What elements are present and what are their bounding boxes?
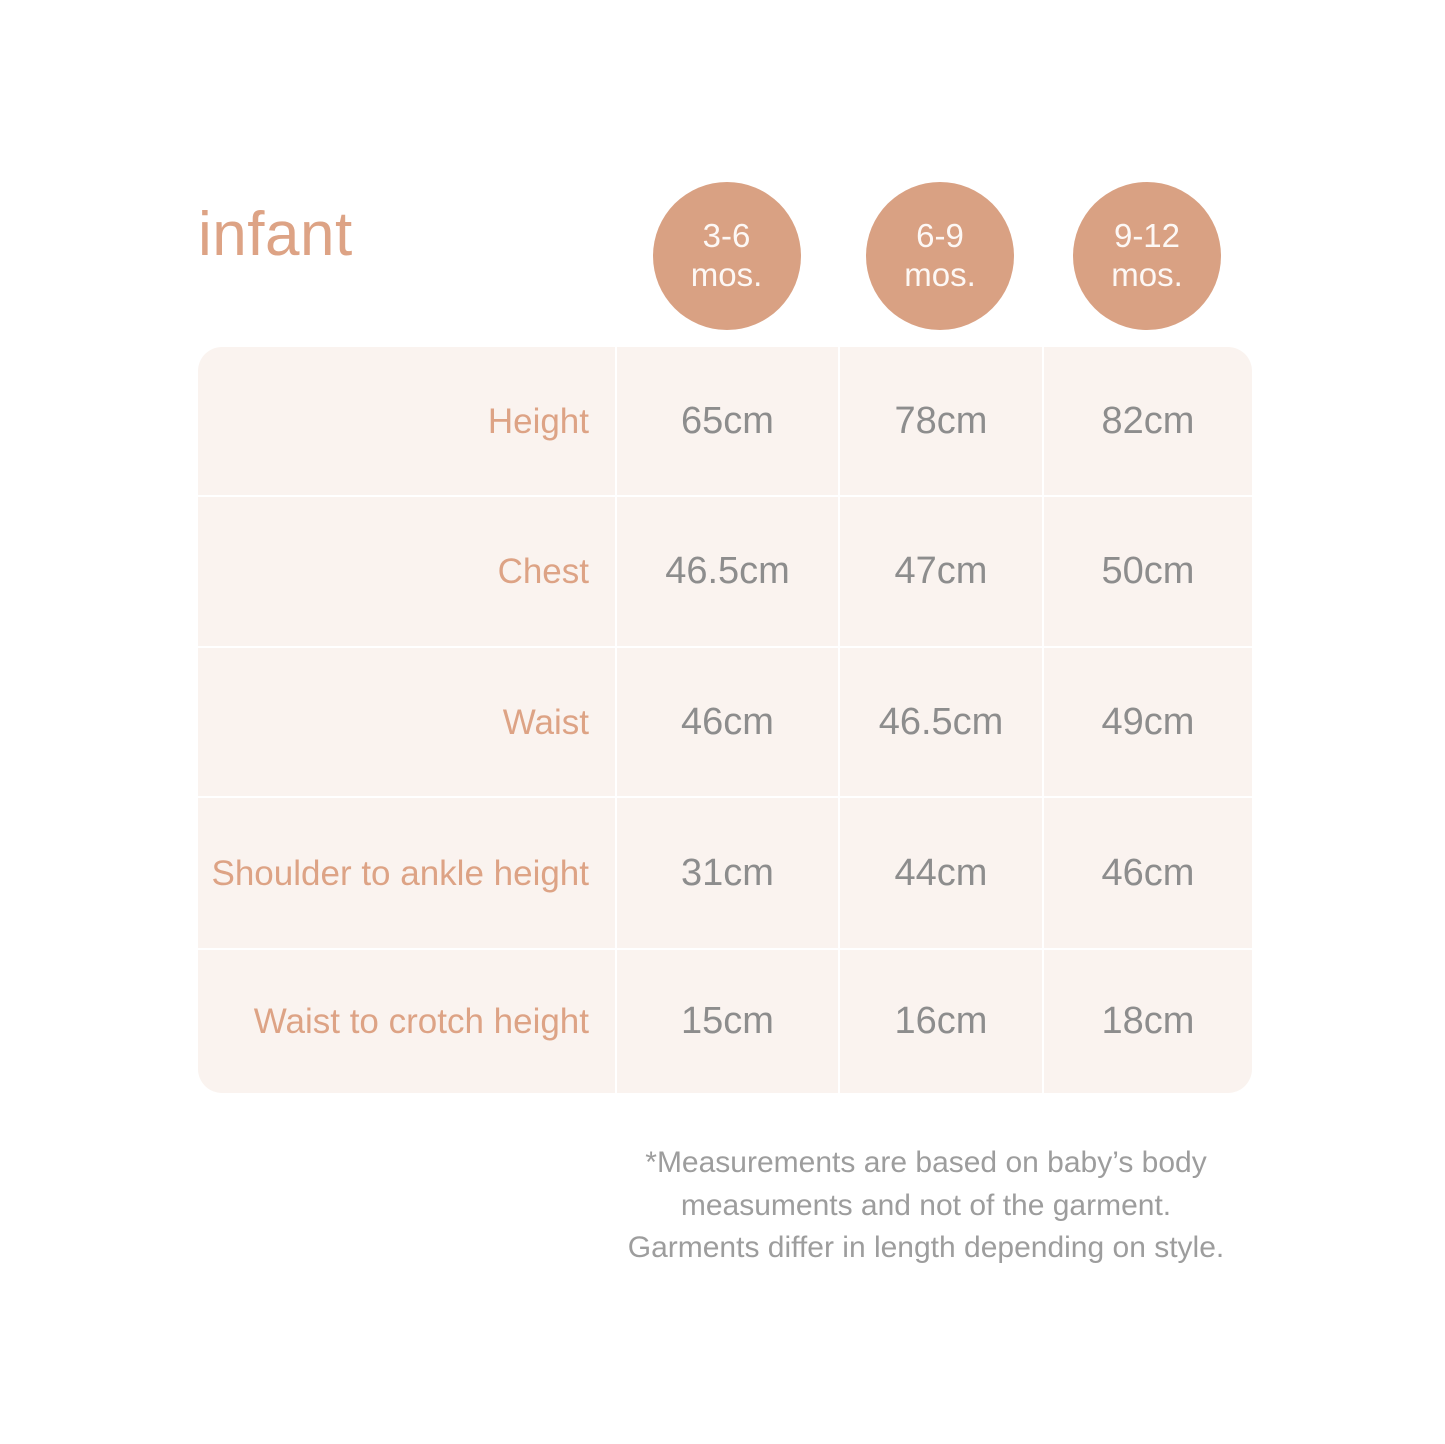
size-badge-unit: mos. [691, 256, 763, 295]
table-cell: 31cm [615, 798, 838, 948]
size-columns-header: 3-6 mos. 6-9 mos. 9-12 mos. [615, 182, 1252, 330]
footnote-line-2: measuments and not of the garment. [600, 1185, 1252, 1228]
table-row: Shoulder to ankle height 31cm 44cm 46cm [198, 796, 1252, 948]
size-badge-6-9-mos[interactable]: 6-9 mos. [866, 182, 1014, 330]
table-cell: 82cm [1042, 347, 1252, 495]
size-badge-range: 6-9 [916, 217, 964, 256]
table-cell: 18cm [1042, 950, 1252, 1093]
table-cell: 65cm [615, 347, 838, 495]
table-cell: 46.5cm [615, 497, 838, 645]
size-chart-page: infant 3-6 mos. 6-9 mos. 9-12 mos. Heigh… [0, 0, 1445, 1444]
table-row: Waist 46cm 46.5cm 49cm [198, 646, 1252, 796]
table-cell: 44cm [838, 798, 1042, 948]
table-row: Height 65cm 78cm 82cm [198, 347, 1252, 495]
table-cell: 46cm [1042, 798, 1252, 948]
table-cell: 16cm [838, 950, 1042, 1093]
table-cell: 46.5cm [838, 648, 1042, 796]
size-badge-3-6-mos[interactable]: 3-6 mos. [653, 182, 801, 330]
page-title: infant [198, 204, 353, 266]
footnote-line-1: *Measurements are based on baby’s body [600, 1142, 1252, 1185]
size-badge-unit: mos. [1111, 256, 1183, 295]
footnote: *Measurements are based on baby’s body m… [600, 1142, 1252, 1270]
size-badge-range: 3-6 [703, 217, 751, 256]
footnote-line-3: Garments differ in length depending on s… [600, 1227, 1252, 1270]
row-label: Height [198, 347, 615, 495]
row-label: Chest [198, 497, 615, 645]
table-cell: 15cm [615, 950, 838, 1093]
table-row: Chest 46.5cm 47cm 50cm [198, 495, 1252, 645]
size-column-header-cell: 3-6 mos. [615, 182, 838, 330]
table-cell: 50cm [1042, 497, 1252, 645]
table-cell: 78cm [838, 347, 1042, 495]
measurements-table: Height 65cm 78cm 82cm Chest 46.5cm 47cm … [198, 347, 1252, 1093]
table-cell: 49cm [1042, 648, 1252, 796]
size-column-header-cell: 6-9 mos. [838, 182, 1042, 330]
size-badge-unit: mos. [904, 256, 976, 295]
table-cell: 46cm [615, 648, 838, 796]
row-label: Shoulder to ankle height [198, 798, 615, 948]
size-badge-range: 9-12 [1114, 217, 1180, 256]
size-column-header-cell: 9-12 mos. [1042, 182, 1252, 330]
table-cell: 47cm [838, 497, 1042, 645]
row-label: Waist [198, 648, 615, 796]
table-row: Waist to crotch height 15cm 16cm 18cm [198, 948, 1252, 1093]
row-label: Waist to crotch height [198, 950, 615, 1093]
size-badge-9-12-mos[interactable]: 9-12 mos. [1073, 182, 1221, 330]
